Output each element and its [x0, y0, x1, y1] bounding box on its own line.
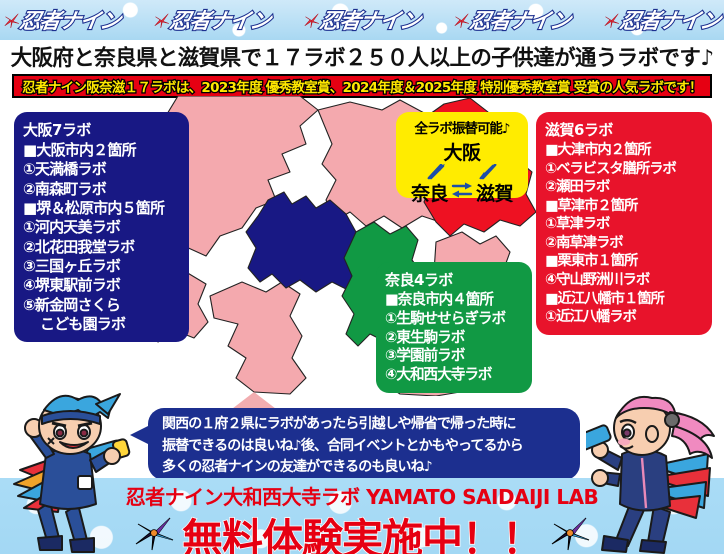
panel-nara[interactable]: 奈良4ラボ ■奈良市内４箇所①生駒せせらぎラボ②東生駒ラボ③学園前ラボ④大和西大… [376, 262, 532, 393]
panel-shiga-line-9: ■近江八幡市１箇所 [545, 290, 703, 309]
logo-text: 忍者ナイン [18, 5, 123, 35]
transfer-box[interactable]: 全ラボ振替可能♪ 大阪 [396, 112, 528, 198]
panel-shiga-line-8: ④守山野洲川ラボ [545, 271, 703, 290]
shuriken-icon-right [550, 514, 590, 554]
panel-osaka-line-7: ③三国ヶ丘ラボ [23, 257, 180, 276]
shuriken-star-icon [304, 13, 319, 28]
speech-bubble-lines: 関西の１府２県にラボがあったら引越しや帰省で帰った時に振替できるのは良いね♪後、… [148, 414, 580, 479]
transfer-box-right-text: 滋賀 [476, 179, 513, 206]
shuriken-star-icon [154, 13, 169, 28]
transfer-box-bottom-row: 奈良 滋賀 [411, 179, 513, 206]
shuriken-star-icon [4, 13, 19, 28]
panel-nara-line-3: ②東生駒ラボ [385, 329, 523, 348]
panel-shiga-title: 滋賀6ラボ [545, 119, 703, 140]
logo-text: 忍者ナイン [618, 5, 723, 35]
speech-bubble: 関西の１府２県にラボがあったら引越しや帰省で帰った時に振替できるのは良いね♪後、… [148, 408, 580, 480]
ninja-girl-character [586, 392, 722, 554]
speech-bubble-line-2: 振替できるのは良いね♪後、合同イベントとかもやってるから [148, 436, 580, 458]
panel-osaka-line-5: ①河内天美ラボ [23, 218, 180, 237]
top-logo-banner: 忍者ナイン 忍者ナイン 忍者ナイン 忍者ナイン 忍者ナイン [0, 0, 724, 40]
panel-shiga-line-7: ■栗東市１箇所 [545, 252, 703, 271]
map-stage: 大阪7ラボ ■大阪市内２箇所①天満橋ラボ②南森町ラボ■堺＆松原市内５箇所①河内天… [0, 100, 724, 400]
headline: 大阪府と奈良県と滋賀県で１７ラボ２５０人以上の子供達が通うラボです♪ [0, 40, 724, 72]
panel-shiga[interactable]: 滋賀6ラボ ■大津市内２箇所①ベラビスタ膳所ラボ②瀬田ラボ■草津市２箇所①草津ラ… [536, 112, 712, 335]
panel-shiga-line-3: ②瀬田ラボ [545, 178, 703, 197]
panel-osaka-line-4: ■堺＆松原市内５箇所 [23, 199, 180, 218]
poster-root: 忍者ナイン 忍者ナイン 忍者ナイン 忍者ナイン 忍者ナイン 大阪府と奈良県と滋賀… [0, 0, 724, 554]
panel-osaka-last-line: こども園ラボ [23, 315, 180, 334]
panel-shiga-line-2: ①ベラビスタ膳所ラボ [545, 160, 703, 179]
award-band: 忍者ナイン阪奈滋１７ラボは、2023年度 優秀教室賞、2024年度＆2025年度… [12, 74, 712, 98]
transfer-box-left-text: 奈良 [411, 179, 448, 206]
shuriken-star-icon [604, 13, 619, 28]
panel-shiga-line-5: ①草津ラボ [545, 215, 703, 234]
panel-osaka-title: 大阪7ラボ [23, 119, 180, 140]
panel-shiga-line-10: ①近江八幡ラボ [545, 308, 703, 327]
panel-shiga-line-1: ■大津市内２箇所 [545, 141, 703, 160]
ninja-boy-character [4, 392, 144, 554]
panel-nara-lines: ■奈良市内４箇所①生駒せせらぎラボ②東生駒ラボ③学園前ラボ④大和西大寺ラボ [385, 291, 523, 385]
panel-nara-line-1: ■奈良市内４箇所 [385, 291, 523, 310]
logo-unit-2: 忍者ナイン [154, 5, 270, 35]
panel-shiga-line-4: ■草津市２箇所 [545, 197, 703, 216]
panel-osaka[interactable]: 大阪7ラボ ■大阪市内２箇所①天満橋ラボ②南森町ラボ■堺＆松原市内５箇所①河内天… [14, 112, 189, 342]
transfer-box-center-text: 大阪 [443, 138, 480, 165]
panel-osaka-line-8: ④堺東駅前ラボ [23, 276, 180, 295]
shuriken-star-icon [454, 13, 469, 28]
award-band-text: 忍者ナイン阪奈滋１７ラボは、2023年度 優秀教室賞、2024年度＆2025年度… [22, 76, 702, 96]
logo-unit-1: 忍者ナイン [4, 5, 120, 35]
panel-osaka-line-2: ①天満橋ラボ [23, 160, 180, 179]
transfer-box-top-text: 全ラボ振替可能♪ [414, 117, 509, 137]
panel-nara-line-2: ①生駒せせらぎラボ [385, 310, 523, 329]
map-region-other-pink-south [210, 282, 306, 394]
logo-text: 忍者ナイン [168, 5, 273, 35]
panel-nara-title: 奈良4ラボ [385, 269, 523, 290]
panel-osaka-line-1: ■大阪市内２箇所 [23, 141, 180, 160]
logo-unit-5: 忍者ナイン [604, 5, 720, 35]
speech-bubble-line-1: 関西の１府２県にラボがあったら引越しや帰省で帰った時に [148, 414, 580, 436]
panel-shiga-lines: ■大津市内２箇所①ベラビスタ膳所ラボ②瀬田ラボ■草津市２箇所①草津ラボ②南草津ラ… [545, 141, 703, 327]
logo-unit-4: 忍者ナイン [454, 5, 570, 35]
logo-unit-3: 忍者ナイン [304, 5, 420, 35]
panel-nara-line-5: ④大和西大寺ラボ [385, 366, 523, 385]
panel-osaka-lines: ■大阪市内２箇所①天満橋ラボ②南森町ラボ■堺＆松原市内５箇所①河内天美ラボ②北花… [23, 141, 180, 315]
panel-osaka-line-9: ⑤新金岡さくら [23, 296, 180, 315]
transfer-arrow-icon [451, 181, 473, 204]
panel-osaka-line-6: ②北花田我堂ラボ [23, 238, 180, 257]
speech-bubble-line-3: 多くの忍者ナインの友達ができるのも良いね♪ [148, 457, 580, 479]
panel-nara-line-4: ③学園前ラボ [385, 347, 523, 366]
logo-text: 忍者ナイン [468, 5, 573, 35]
panel-shiga-line-6: ②南草津ラボ [545, 234, 703, 253]
panel-osaka-line-3: ②南森町ラボ [23, 180, 180, 199]
transfer-box-arrows [407, 164, 517, 180]
free-trial-text: 無料体験実施中！！ [182, 505, 542, 554]
top-logo-row: 忍者ナイン 忍者ナイン 忍者ナイン 忍者ナイン 忍者ナイン [0, 0, 724, 40]
headline-text: 大阪府と奈良県と滋賀県で１７ラボ２５０人以上の子供達が通うラボです♪ [11, 41, 714, 72]
logo-text: 忍者ナイン [318, 5, 423, 35]
